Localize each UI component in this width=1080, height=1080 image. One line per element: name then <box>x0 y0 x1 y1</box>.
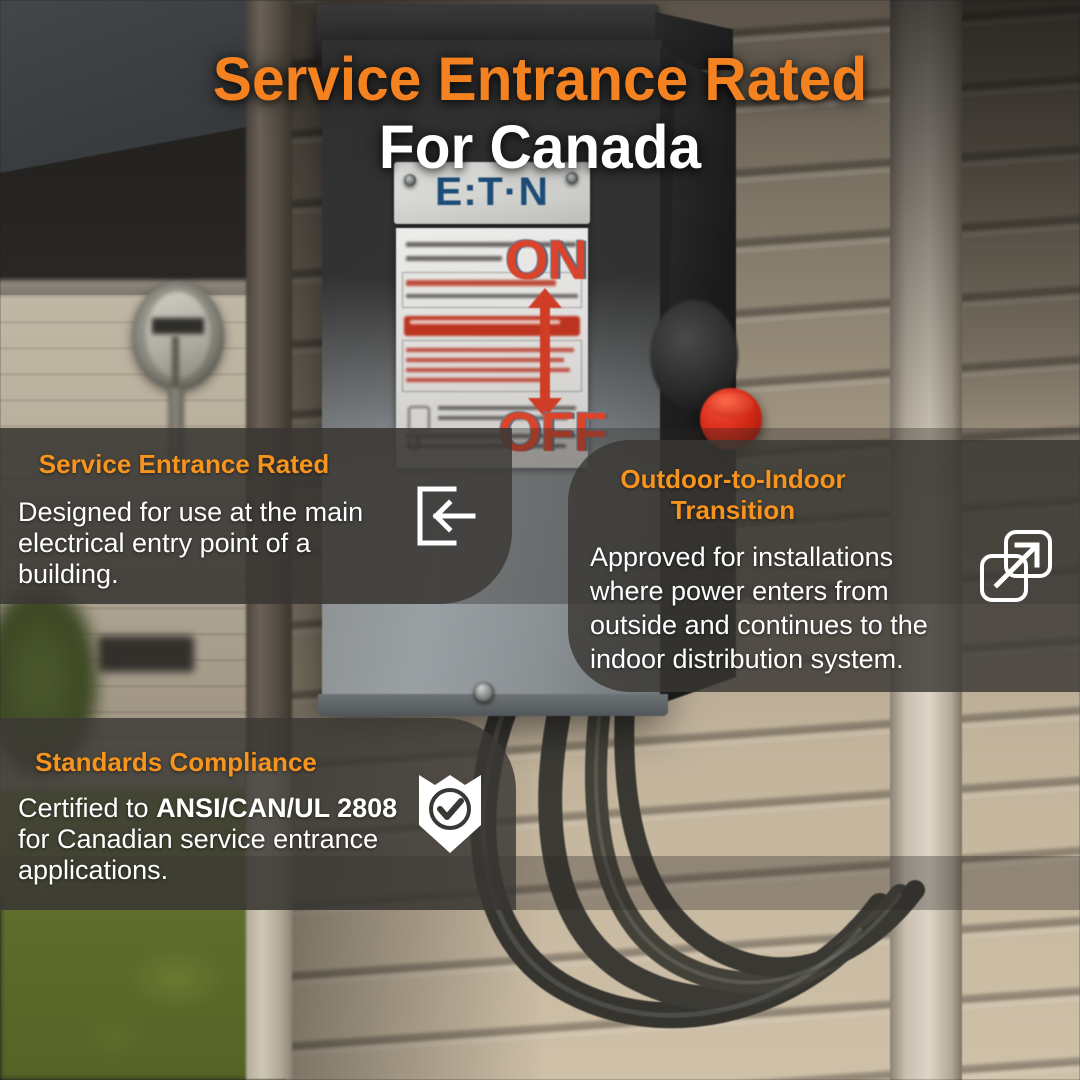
feature-card-icon <box>400 771 516 857</box>
disconnect-handle-knob-top <box>708 392 754 418</box>
external-transition-icon <box>975 525 1057 607</box>
feature-card-outdoor-to-indoor-transition: Outdoor-to-Indoor Transition Approved fo… <box>568 440 1080 692</box>
feature-card-body-prefix: Certified to <box>18 793 156 823</box>
feature-card-icon <box>396 478 512 554</box>
enclosure-latch-screw <box>474 682 494 702</box>
feature-card-text: Service Entrance Rated Designed for use … <box>0 443 396 590</box>
infographic-canvas: E:T·N ON OFF <box>0 0 1080 1080</box>
page-title: Service Entrance Rated For Canada <box>0 46 1080 182</box>
feature-card-body: Designed for use at the main electrical … <box>18 497 396 590</box>
feature-card-body-standard: ANSI/CAN/UL 2808 <box>156 793 397 823</box>
enclosure-bottom-lip <box>318 694 668 716</box>
feature-card-standards-compliance: Standards Compliance Certified to ANSI/C… <box>0 718 516 910</box>
feature-card-text: Standards Compliance Certified to ANSI/C… <box>0 743 400 886</box>
enter-arrow-icon <box>407 478 483 554</box>
feature-card-title: Outdoor-to-Indoor Transition <box>590 464 962 526</box>
shield-check-icon <box>411 771 489 857</box>
feature-card-title-line-2: Transition <box>590 495 876 526</box>
feature-card-title: Standards Compliance <box>18 747 400 777</box>
feature-card-title: Service Entrance Rated <box>18 449 396 479</box>
indicator-double-arrow-icon <box>540 306 550 400</box>
feature-card-title-line-1: Outdoor-to-Indoor <box>590 464 876 495</box>
title-line-2: For Canada <box>22 112 1059 182</box>
feature-card-body: Certified to ANSI/CAN/UL 2808 for Canadi… <box>18 793 400 886</box>
feature-card-icon <box>962 525 1080 607</box>
feature-card-service-entrance-rated: Service Entrance Rated Designed for use … <box>0 428 512 604</box>
feature-card-body: Approved for installations where power e… <box>590 540 962 676</box>
feature-card-body-suffix: for Canadian service entrance applicatio… <box>18 824 378 885</box>
feature-card-text: Outdoor-to-Indoor Transition Approved fo… <box>568 456 962 676</box>
indicator-on-label: ON <box>498 232 594 288</box>
title-line-1: Service Entrance Rated <box>22 46 1059 112</box>
